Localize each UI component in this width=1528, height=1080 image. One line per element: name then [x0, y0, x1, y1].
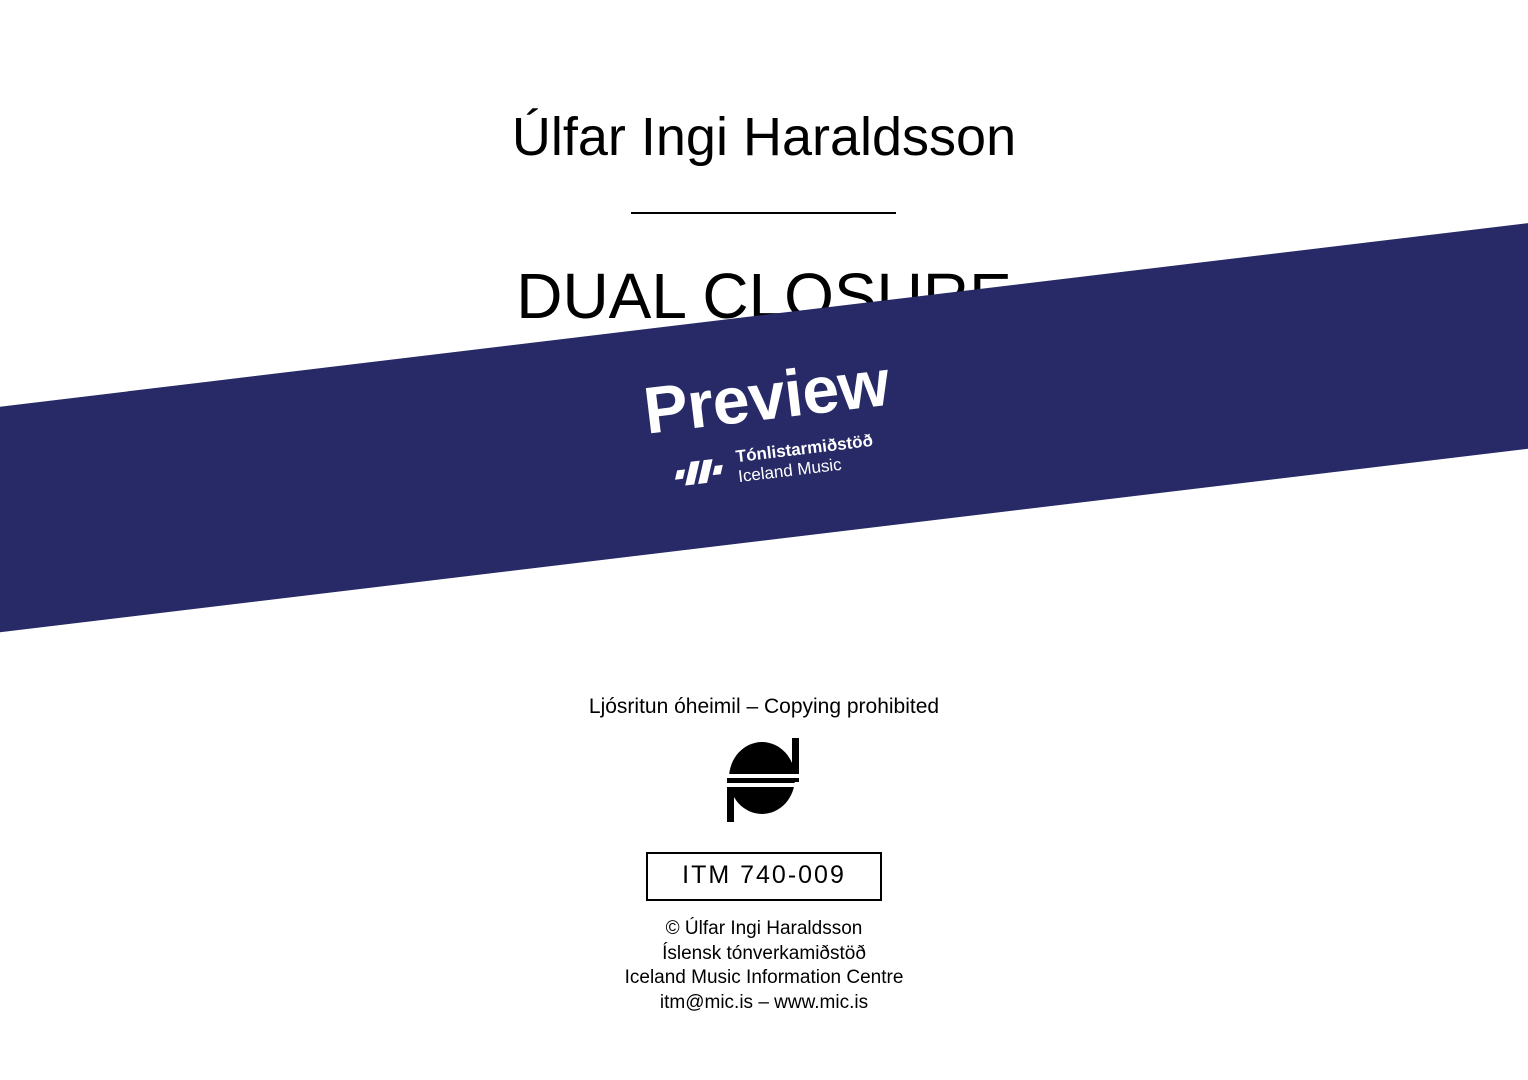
emblem-disc — [729, 742, 795, 814]
imprint-block: © Úlfar Ingi Haraldsson Íslensk tónverka… — [0, 917, 1528, 1016]
chevron-shape-1 — [675, 469, 685, 479]
catalogue-number-wrapper: ITM 740-009 — [0, 852, 1528, 901]
title-page: Úlfar Ingi Haraldsson DUAL CLOSURE Op. 1… — [0, 0, 1528, 1080]
imprint-line-copyright: © Úlfar Ingi Haraldsson — [0, 917, 1528, 942]
preview-banner-content: Preview Tónlistarmiðstöð Iceland Music — [640, 349, 899, 498]
publisher-emblem-icon — [721, 738, 807, 822]
composer-name: Úlfar Ingi Haraldsson — [0, 108, 1528, 167]
chevron-shape-3 — [698, 459, 713, 484]
preview-label: Preview — [640, 349, 892, 444]
iceland-music-wordmark: Tónlistarmiðstöð Iceland Music — [735, 431, 877, 487]
emblem-stripe-lower — [725, 783, 799, 787]
chevron-shape-2 — [685, 461, 700, 486]
catalogue-number: ITM 740-009 — [646, 852, 882, 901]
imprint-line-publisher-is: Íslensk tónverkamiðstöð — [0, 942, 1528, 967]
imprint-line-contact: itm@mic.is – www.mic.is — [0, 991, 1528, 1016]
imprint-line-publisher-en: Iceland Music Information Centre — [0, 966, 1528, 991]
publisher-emblem — [0, 738, 1528, 822]
iceland-music-chevrons-icon — [673, 454, 728, 490]
title-divider-rule — [631, 212, 896, 214]
chevron-shape-4 — [712, 465, 722, 475]
emblem-stripe-upper — [725, 774, 799, 778]
copying-prohibited-notice: Ljósritun óheimil – Copying prohibited — [0, 694, 1528, 719]
